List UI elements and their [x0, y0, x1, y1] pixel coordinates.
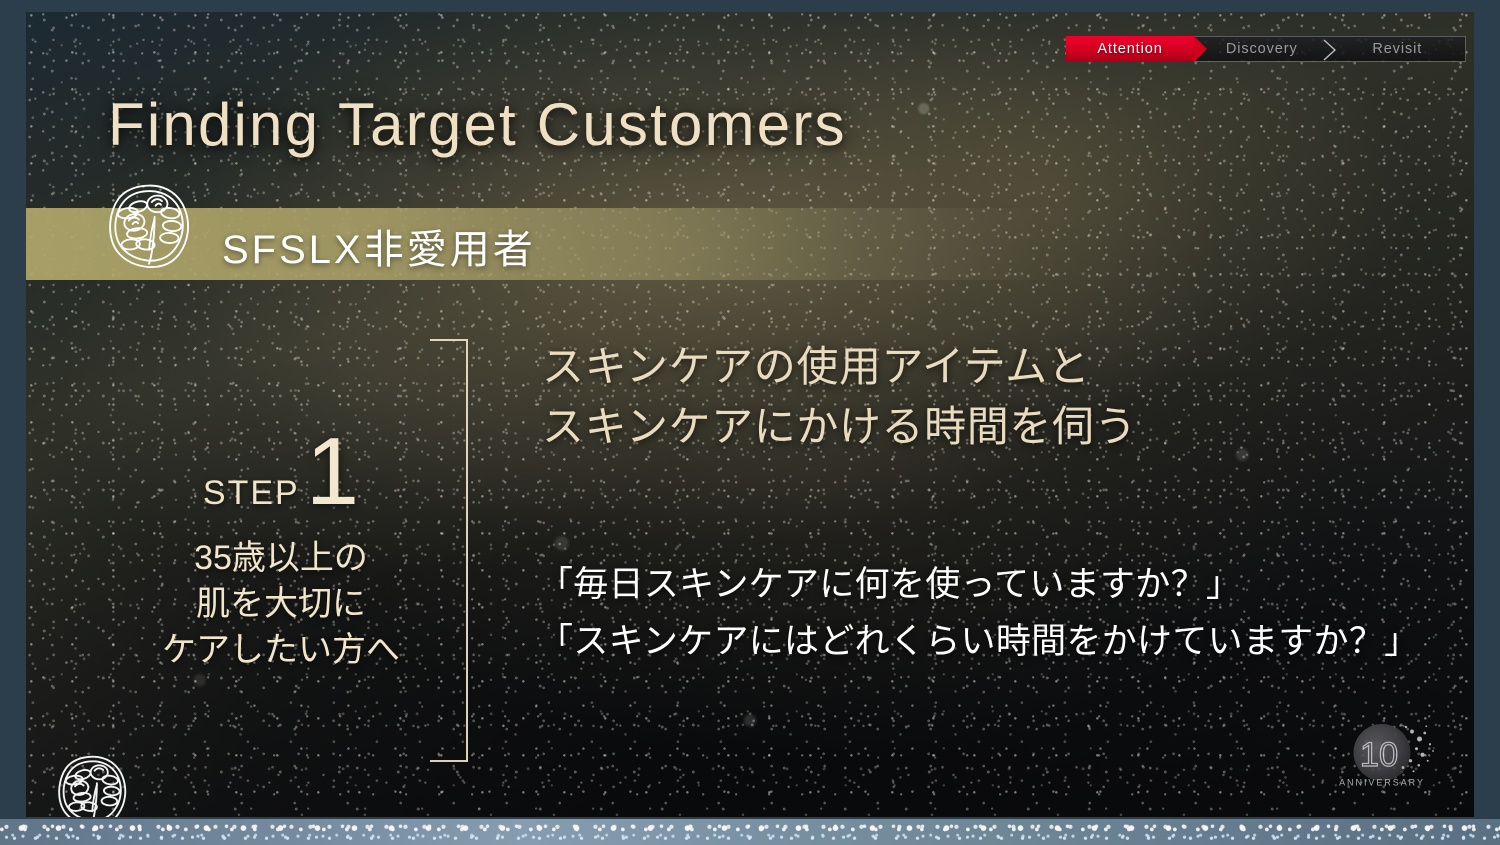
step-number: 1	[306, 430, 359, 514]
step-word: STEP	[203, 474, 300, 513]
anniversary-10-icon: 10 ANNIVERSARY	[1328, 719, 1448, 795]
breadcrumb-label-attention: Attention	[1097, 41, 1162, 57]
page-title: Finding Target Customers	[108, 90, 847, 159]
slide-frame: Attention Discovery Revisit Finding Targ…	[0, 0, 1500, 845]
breadcrumb-step-attention[interactable]: Attention	[1066, 36, 1194, 62]
breadcrumb-step-discovery[interactable]: Discovery	[1194, 36, 1330, 62]
question-list: 「毎日スキンケアに何を使っていますか？」 「スキンケアにはどれくらい時間をかけて…	[538, 557, 1419, 670]
step-heading: STEP 1	[136, 430, 426, 514]
step-column: STEP 1 35歳以上の 肌を大切に ケアしたい方へ	[136, 430, 426, 673]
question-item: 「スキンケアにはどれくらい時間をかけていますか？」	[538, 614, 1419, 671]
anniversary-number: 10	[1360, 736, 1398, 774]
subtitle-text: SFSLX非愛用者	[222, 217, 536, 275]
breadcrumb-label-discovery: Discovery	[1226, 41, 1298, 57]
botanical-emblem-icon	[54, 752, 132, 817]
breadcrumb: Attention Discovery Revisit	[1066, 36, 1466, 62]
breadcrumb-label-revisit: Revisit	[1372, 41, 1422, 57]
question-item: 「毎日スキンケアに何を使っていますか？」	[538, 557, 1419, 614]
content-bracket	[430, 339, 468, 762]
frame-sparkle-strip	[0, 819, 1500, 845]
anniversary-label: ANNIVERSARY	[1339, 778, 1425, 788]
lead-heading: スキンケアの使用アイテムと スキンケアにかける時間を伺う	[542, 337, 1137, 456]
step-description: 35歳以上の 肌を大切に ケアしたい方へ	[136, 536, 426, 673]
breadcrumb-step-revisit[interactable]: Revisit	[1330, 36, 1467, 62]
botanical-emblem-icon	[104, 180, 196, 272]
slide-canvas: Attention Discovery Revisit Finding Targ…	[26, 12, 1474, 817]
